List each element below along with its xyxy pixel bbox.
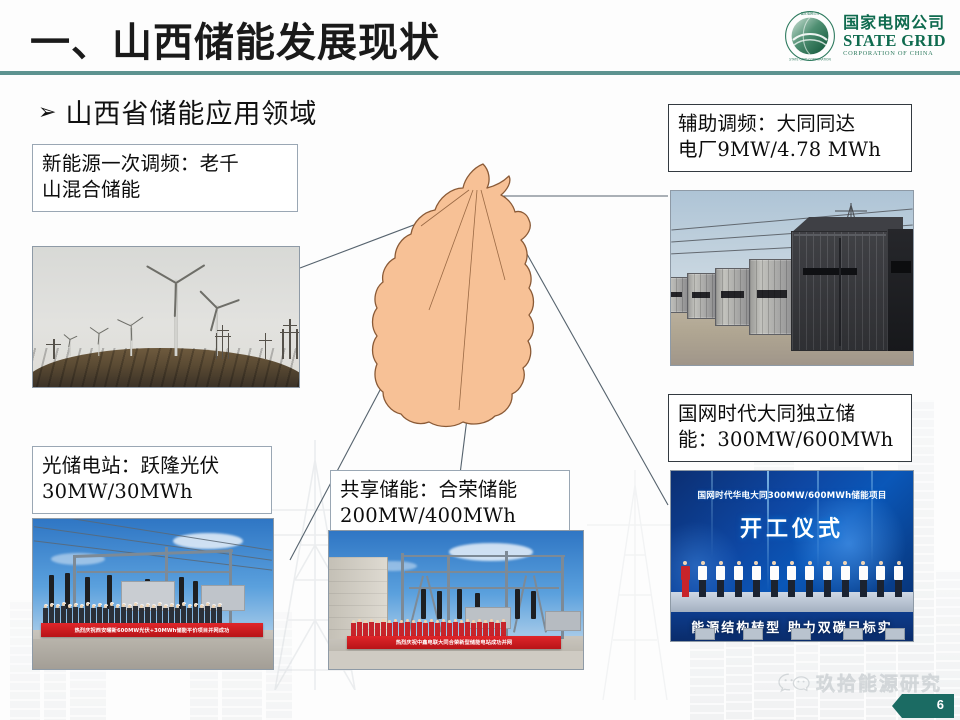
ceremony-people-row — [681, 561, 904, 597]
callout-line-1: 光储电站：跃隆光伏 — [42, 453, 262, 479]
logo-text-cn: 国家电网公司 — [843, 15, 946, 31]
ceremony-headline: 开工仪式 — [671, 511, 913, 543]
wind-farm-photo — [32, 246, 300, 388]
svg-text:STATE GRID CORPORATION: STATE GRID CORPORATION — [789, 57, 831, 61]
channel-watermark: 玖拾能源研究 — [776, 669, 942, 696]
state-grid-logo: 国家电网公司 STATE GRID CORPORATION 国家电网公司 STA… — [784, 8, 946, 64]
page-number-badge: 6 — [892, 694, 954, 718]
ceremony-title-line: 国网时代华电大同300MW/600MWh储能项目 — [671, 489, 913, 501]
arrow-bullet-icon: ➢ — [38, 101, 56, 123]
callout-line-2: 30MW/30MWh — [42, 479, 262, 505]
state-grid-globe-icon: 国家电网公司 STATE GRID CORPORATION — [784, 10, 836, 62]
battery-container-photo — [670, 190, 914, 366]
callout-line-2: 电厂9MW/4.78 MWh — [678, 137, 902, 163]
celebration-banner: 热烈庆祝西安曜新600MW光伏+30MWh储能平价项目并网成功 — [41, 623, 263, 637]
banner-text: 热烈庆祝中鑫电联大同合荣新型储能电站成功并网 — [396, 639, 512, 646]
crowd-row — [43, 602, 223, 623]
callout-line-2: 山混合储能 — [42, 177, 288, 203]
callout-line-1: 国网时代大同独立储 — [678, 401, 902, 427]
shared-storage-substation-photo: 热烈庆祝中鑫电联大同合荣新型储能电站成功并网 — [328, 530, 584, 670]
section-subheading: ➢ 山西省储能应用领域 — [38, 92, 317, 131]
shanxi-province-map — [355, 160, 595, 470]
callout-line-1: 辅助调频：大同同达 — [678, 111, 902, 137]
slide-canvas: 一、山西储能发展现状 国家电网公司 STATE GRID — [0, 0, 960, 720]
page-number: 6 — [937, 697, 944, 712]
logo-text-en: STATE GRID — [843, 33, 946, 50]
celebration-banner: 热烈庆祝中鑫电联大同合荣新型储能电站成功并网 — [347, 636, 561, 649]
banner-text: 热烈庆祝西安曜新600MW光伏+30MWh储能平价项目并网成功 — [75, 627, 230, 634]
callout-line-2: 200MW/400MWh — [340, 503, 560, 529]
callout-shared-storage: 共享储能：合荣储能 200MW/400MWh — [330, 470, 570, 538]
page-title: 一、山西储能发展现状 — [30, 10, 440, 68]
callout-pv-storage-station: 光储电站：跃隆光伏 30MW/30MWh — [32, 446, 272, 514]
callout-new-energy-primary-freq: 新能源一次调频：老千 山混合储能 — [32, 144, 298, 212]
svg-text:国家电网公司: 国家电网公司 — [801, 11, 820, 16]
callout-line-1: 新能源一次调频：老千 — [42, 151, 288, 177]
callout-line-2: 能：300MW/600MWh — [678, 427, 902, 453]
section-subheading-label: 山西省储能应用领域 — [65, 92, 317, 131]
title-divider — [0, 71, 960, 75]
watermark-text: 玖拾能源研究 — [816, 669, 942, 696]
groundbreaking-ceremony-photo: 国网时代华电大同300MW/600MWh储能项目 开工仪式 能源结构转型 助 — [670, 470, 914, 642]
wechat-icon — [776, 671, 810, 695]
callout-state-grid-times-datong: 国网时代大同独立储 能：300MW/600MWh — [668, 394, 912, 462]
logo-text-sub: CORPORATION OF CHINA — [843, 51, 946, 57]
pv-substation-photo: 热烈庆祝西安曜新600MW光伏+30MWh储能平价项目并网成功 — [32, 518, 274, 670]
callout-auxiliary-frequency: 辅助调频：大同同达 电厂9MW/4.78 MWh — [668, 104, 912, 172]
callout-line-1: 共享储能：合荣储能 — [340, 477, 560, 503]
